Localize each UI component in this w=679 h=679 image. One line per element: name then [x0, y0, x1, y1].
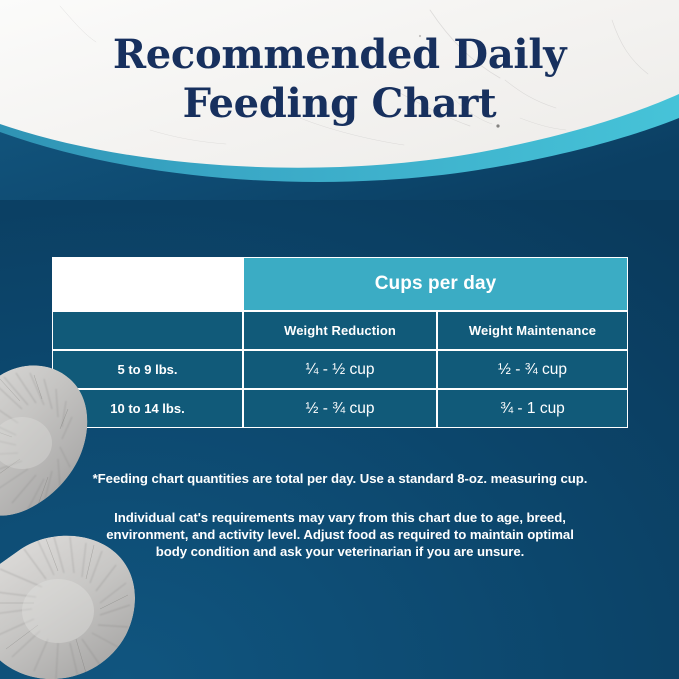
cell-weight-reduction: ¼ - ½ cup: [243, 350, 437, 389]
feeding-chart-page: Recommended Daily Feeding Chart Weight i…: [0, 0, 679, 679]
footnote-body: Individual cat's requirements may vary f…: [90, 509, 590, 560]
marble-banner: [0, 0, 679, 200]
table-row: 10 to 14 lbs. ½ - ¾ cup ¾ - 1 cup: [52, 389, 628, 428]
cell-weight-maintenance: ¾ - 1 cup: [437, 389, 628, 428]
feeding-chart-table: Weight in lbs. Cups per day Weight Reduc…: [52, 257, 628, 428]
footnote-asterisk: *Feeding chart quantities are total per …: [52, 470, 628, 487]
table-row: 5 to 9 lbs. ¼ - ½ cup ½ - ¾ cup: [52, 350, 628, 389]
header-weight-maintenance: Weight Maintenance: [437, 311, 628, 350]
header-blank-spacer: [52, 311, 243, 350]
header-weight-reduction: Weight Reduction: [243, 311, 437, 350]
header-cups-per-day: Cups per day: [243, 257, 628, 311]
cell-weight-maintenance: ½ - ¾ cup: [437, 350, 628, 389]
table-header-row-primary: Weight in lbs. Cups per day: [52, 257, 628, 311]
table-header-row-secondary: Weight Reduction Weight Maintenance: [52, 311, 628, 350]
footnote-block: *Feeding chart quantities are total per …: [52, 470, 628, 560]
cell-weight-reduction: ½ - ¾ cup: [243, 389, 437, 428]
cell-weight-range: 10 to 14 lbs.: [52, 389, 243, 428]
cell-weight-range: 5 to 9 lbs.: [52, 350, 243, 389]
header-weight-in-lbs: Weight in lbs.: [52, 257, 243, 311]
